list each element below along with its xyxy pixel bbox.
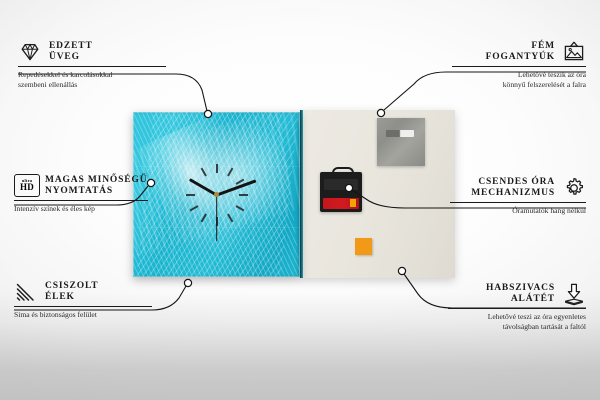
gear-icon [562,176,586,200]
mechanism-loop [332,167,354,177]
feature-foam-pad[interactable]: HABSZIVACS ALÁTÉT Lehetővé teszi az óra … [448,282,586,331]
feature-title: FÉM FOGANTYÚK [486,41,555,64]
feature-title: CSENDES ÓRA MECHANIZMUS [471,177,555,200]
panel-edge-spine [300,110,303,278]
feature-tempered-glass[interactable]: EDZETT ÜVEG Repedésekkel és karcolásokka… [18,40,166,89]
metal-hanger [377,118,425,166]
feature-desc: Óramutatók hang nélkül [450,203,586,216]
battery [323,198,359,209]
clock-second-hand [216,195,217,241]
feature-desc: Lehetővé teszik az óra könnyű felszerelé… [452,67,586,89]
feature-title: HABSZIVACS ALÁTÉT [486,283,555,306]
diamond-icon [18,40,42,64]
feature-desc: Sima és biztonságos felület [14,307,152,320]
feature-high-quality-print[interactable]: ultra HD MAGAS MINŐSÉGŰ NYOMTATÁS Intenz… [14,174,148,214]
clock-back-panel [300,110,455,278]
picture-hanger-icon [562,40,586,64]
mechanism-dial [324,179,358,190]
polished-edges-icon [14,280,38,304]
hanger-slot [386,130,414,137]
feature-title: CSISZOLT ÉLEK [45,281,98,304]
clock-mechanism [320,172,362,212]
feature-desc: Repedésekkel és karcolásokkal szembeni e… [18,67,166,89]
foam-pad [355,238,372,255]
feature-metal-handles[interactable]: FÉM FOGANTYÚK Lehetővé teszik az óra kön… [452,40,586,89]
infographic-canvas: EDZETT ÜVEG Repedésekkel és karcolásokka… [0,0,600,400]
clock-face [133,112,300,277]
press-down-pad-icon [562,282,586,306]
feature-desc: Intenzív színek és éles kép [14,201,148,214]
feature-silent-mechanism[interactable]: CSENDES ÓRA MECHANIZMUS Óramutatók hang … [450,176,586,216]
feature-polished-edges[interactable]: CSISZOLT ÉLEK Sima és biztonságos felüle… [14,280,152,320]
ultra-hd-icon: ultra HD [14,174,38,198]
clock-center-pin [214,192,219,197]
feature-desc: Lehetővé teszi az óra egyenletes távolsá… [448,309,586,331]
product-image [133,112,455,280]
feature-title: EDZETT ÜVEG [49,41,93,64]
feature-title: MAGAS MINŐSÉGŰ NYOMTATÁS [45,175,147,198]
ultra-hd-bottom-label: HD [20,183,34,192]
